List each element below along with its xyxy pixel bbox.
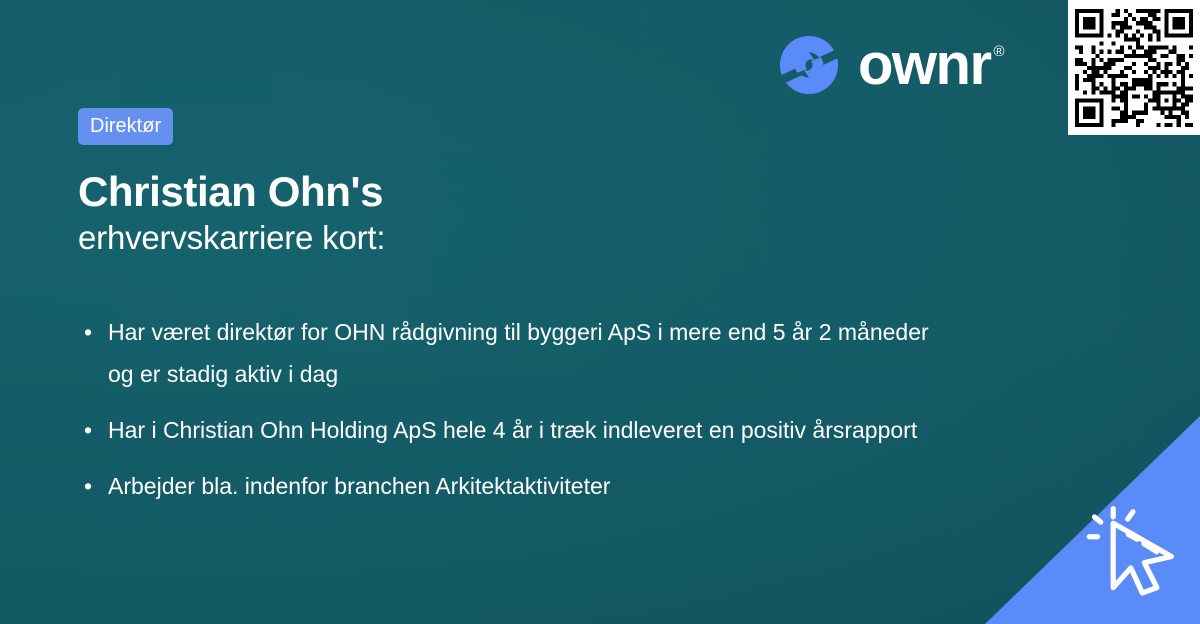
business-profile-card: ownr ® Direktør Christian Ohn's erhvervs… xyxy=(0,0,1200,624)
career-facts-list: Har været direktør for OHN rådgivning ti… xyxy=(82,312,952,521)
qr-code-image[interactable] xyxy=(1075,9,1193,127)
registered-trademark-symbol: ® xyxy=(994,44,1005,59)
click-cursor-icon xyxy=(1082,492,1186,596)
status-badge: Direktør xyxy=(78,108,173,145)
wordmark-text: ownr xyxy=(858,38,991,91)
list-item: Har i Christian Ohn Holding ApS hele 4 å… xyxy=(82,410,952,452)
page-title: Christian Ohn's erhvervskarriere kort: xyxy=(78,167,908,259)
ownr-wordmark: ownr ® xyxy=(858,38,1005,91)
person-name: Christian Ohn's xyxy=(78,167,908,217)
page-subtitle: erhvervskarriere kort: xyxy=(78,217,908,259)
list-item: Arbejder bla. indenfor branchen Arkitekt… xyxy=(82,466,952,508)
ownr-logo[interactable]: ownr ® xyxy=(778,34,1005,96)
list-item: Har været direktør for OHN rådgivning ti… xyxy=(82,312,952,396)
ownr-circle-mark xyxy=(778,34,840,96)
headline-block: Direktør Christian Ohn's erhvervskarrier… xyxy=(78,108,908,259)
qr-code-panel[interactable] xyxy=(1068,0,1200,135)
